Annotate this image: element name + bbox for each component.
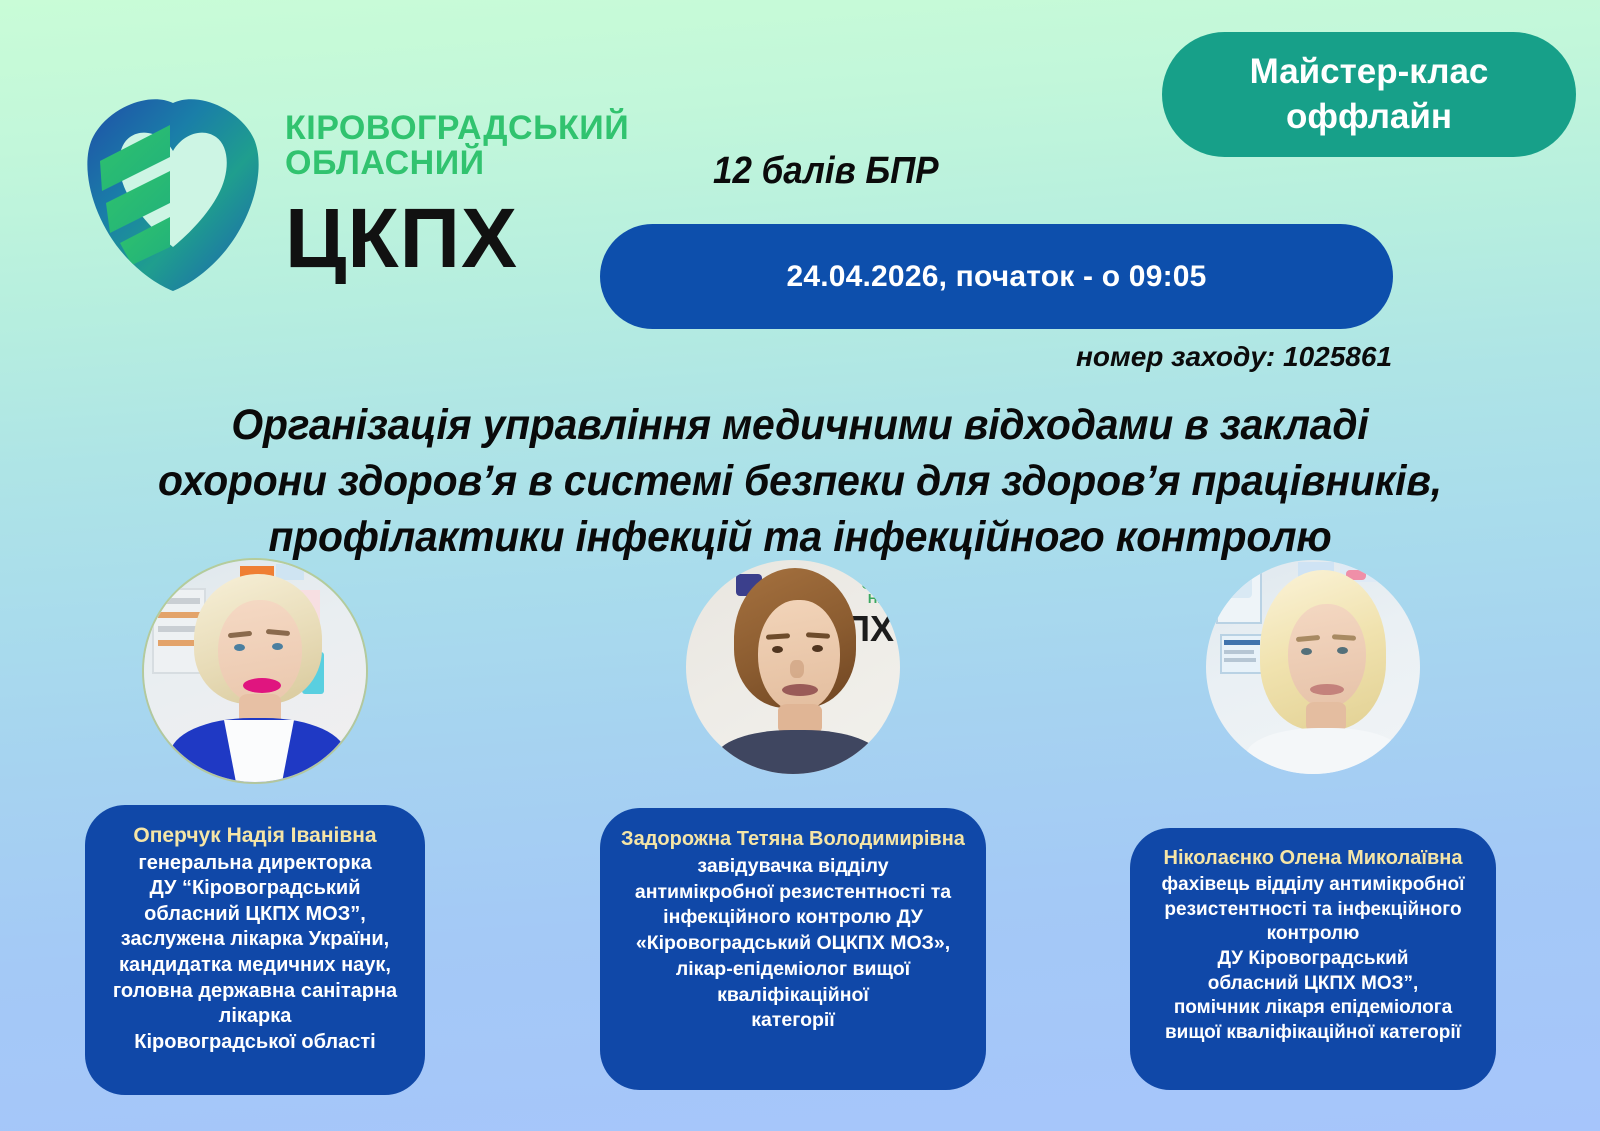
format-badge-line-2: оффлайн	[1250, 95, 1489, 140]
avatar	[144, 560, 366, 782]
logo-line-2: ОБЛАСНИЙ	[285, 146, 629, 181]
cpd-points-label: 12 балів БПР	[713, 150, 939, 193]
speaker-role-2: завідувачка відділу антимікробної резист…	[612, 854, 974, 1034]
speaker-info-card-2: Задорожна Тетяна Володимирівна завідувач…	[600, 808, 986, 1090]
format-badge: Майстер-клас оффлайн	[1162, 32, 1576, 157]
event-date-bar: 24.04.2026, початок - о 09:05	[600, 224, 1393, 329]
title-line-3: профілактики інфекцій та інфекційного ко…	[97, 510, 1503, 566]
page-title: Організація управління медичними відхода…	[60, 398, 1540, 566]
speakers-row: Оперчук Надія Іванівна генеральна директ…	[0, 560, 1600, 1131]
organization-logo: КІРОВОГРАДСЬКИЙ ОБЛАСНИЙ ЦКПХ	[86, 95, 629, 291]
title-line-1: Організація управління медичними відхода…	[97, 398, 1503, 454]
speaker-photo-operchuk	[144, 560, 366, 782]
avatar	[1206, 560, 1420, 774]
speaker-info-card-3: Ніколаєнко Олена Миколаївна фахівець від…	[1130, 828, 1496, 1090]
speaker-name-2: Задорожна Тетяна Володимирівна	[612, 826, 974, 852]
format-badge-text: Майстер-клас оффлайн	[1250, 50, 1489, 140]
title-line-2: охорони здоров’я в системі безпеки для з…	[97, 454, 1503, 510]
logo-line-1: КІРОВОГРАДСЬКИЙ	[285, 111, 629, 146]
shield-heart-logo-icon	[86, 95, 261, 291]
format-badge-line-1: Майстер-клас	[1250, 50, 1489, 95]
speaker-info-card-1: Оперчук Надія Іванівна генеральна директ…	[85, 805, 425, 1095]
speaker-role-3: фахівець відділу антимікробної резистент…	[1142, 873, 1484, 1046]
speaker-name-3: Ніколаєнко Олена Миколаївна	[1142, 846, 1484, 871]
logo-wordmark: КІРОВОГРАДСЬКИЙ ОБЛАСНИЙ ЦКПХ	[285, 95, 629, 280]
event-date-text: 24.04.2026, початок - о 09:05	[786, 260, 1206, 294]
speaker-name-1: Оперчук Надія Іванівна	[97, 823, 413, 849]
event-number-label: номер заходу: 1025861	[1076, 341, 1392, 373]
speaker-role-1: генеральна директорка ДУ “Кіровоградськи…	[97, 851, 413, 1056]
logo-abbreviation: ЦКПХ	[285, 196, 629, 280]
speaker-photo-zadorozhna: ОГРАНИЙ ПХ	[686, 560, 900, 774]
avatar: ОГРАНИЙ ПХ	[686, 560, 900, 774]
speaker-photo-nikolaienko	[1206, 560, 1420, 774]
poster-canvas: КІРОВОГРАДСЬКИЙ ОБЛАСНИЙ ЦКПХ Майстер-кл…	[0, 0, 1600, 1131]
